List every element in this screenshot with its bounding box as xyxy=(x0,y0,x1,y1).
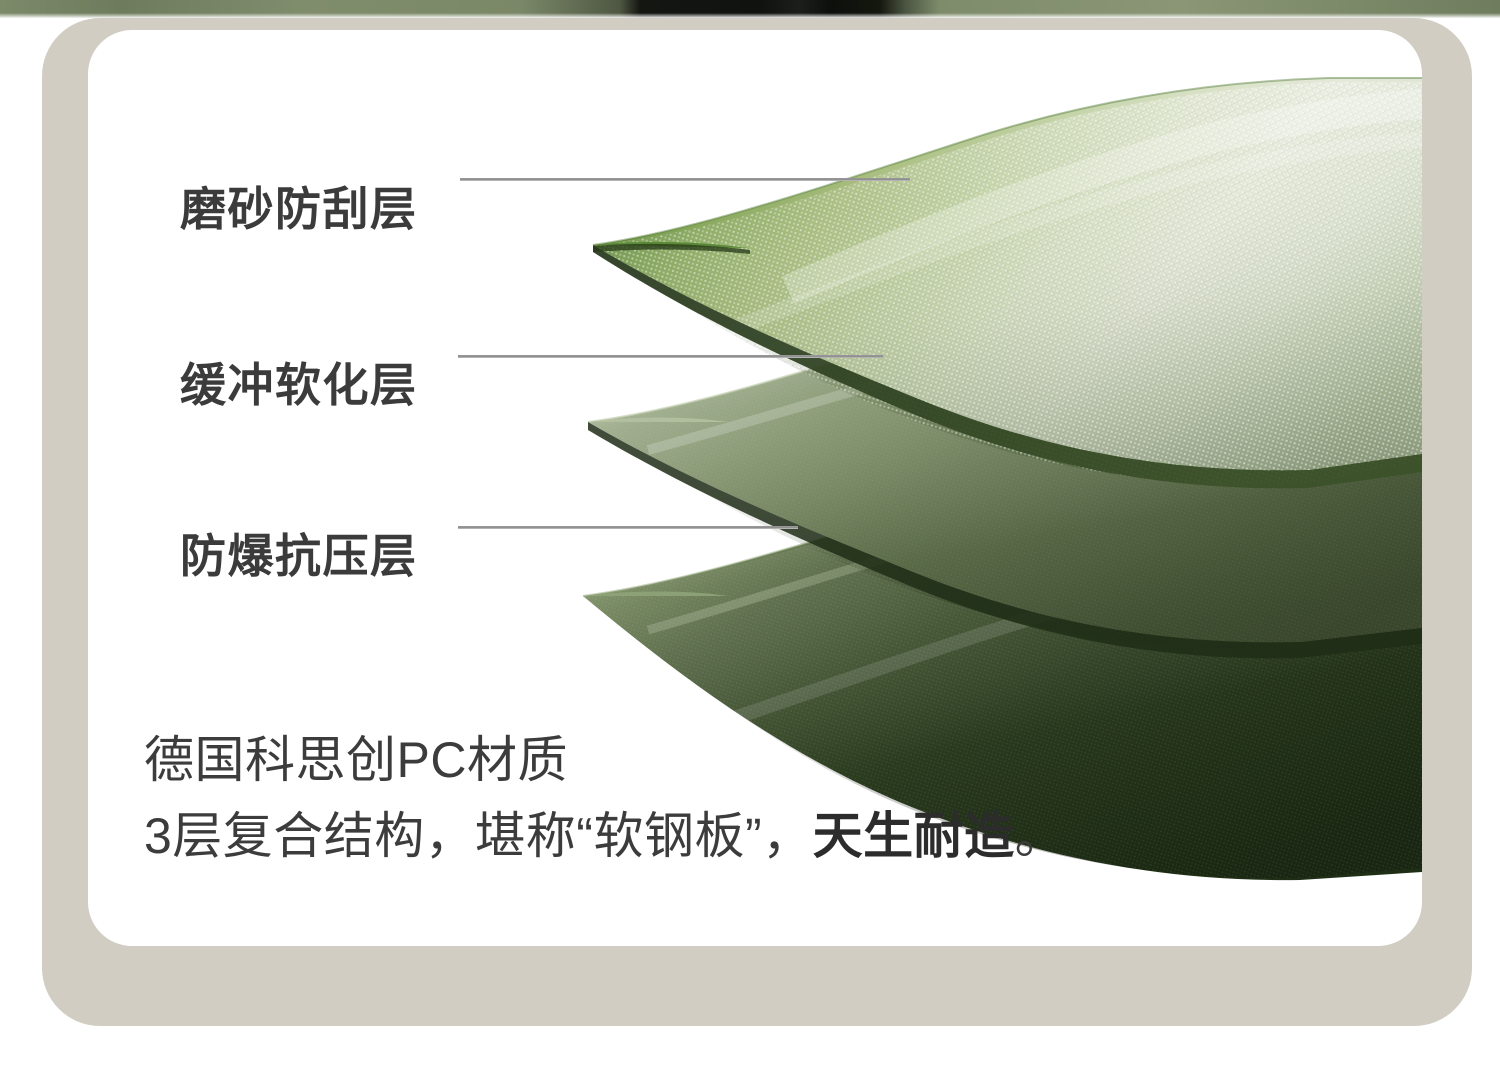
infographic-stage: 磨砂防刮层 缓冲软化层 防爆抗压层 德国科思创PC材质 3层复合结构，堪称“软钢… xyxy=(0,0,1500,1084)
leader-line-3 xyxy=(458,526,798,529)
layer-label-matte-anti-scratch: 磨砂防刮层 xyxy=(180,186,418,232)
description-block: 德国科思创PC材质 3层复合结构，堪称“软钢板”，天生耐造。 xyxy=(144,722,1065,874)
description-line-2-prefix: 3层复合结构，堪称“软钢板”， xyxy=(144,808,813,864)
description-line-2: 3层复合结构，堪称“软钢板”，天生耐造。 xyxy=(144,798,1065,874)
description-line-2-emphasis: 天生耐造 xyxy=(813,808,1015,864)
layer-label-cushion-softening: 缓冲软化层 xyxy=(180,362,418,408)
leader-line-1 xyxy=(460,178,910,181)
description-line-2-suffix: 。 xyxy=(1015,808,1066,864)
image-bleed-strip xyxy=(0,0,1500,18)
leader-line-2 xyxy=(458,355,883,358)
content-card: 磨砂防刮层 缓冲软化层 防爆抗压层 德国科思创PC材质 3层复合结构，堪称“软钢… xyxy=(88,30,1422,946)
description-line-1: 德国科思创PC材质 xyxy=(144,722,1065,798)
layer-label-explosion-proof: 防爆抗压层 xyxy=(180,533,418,579)
